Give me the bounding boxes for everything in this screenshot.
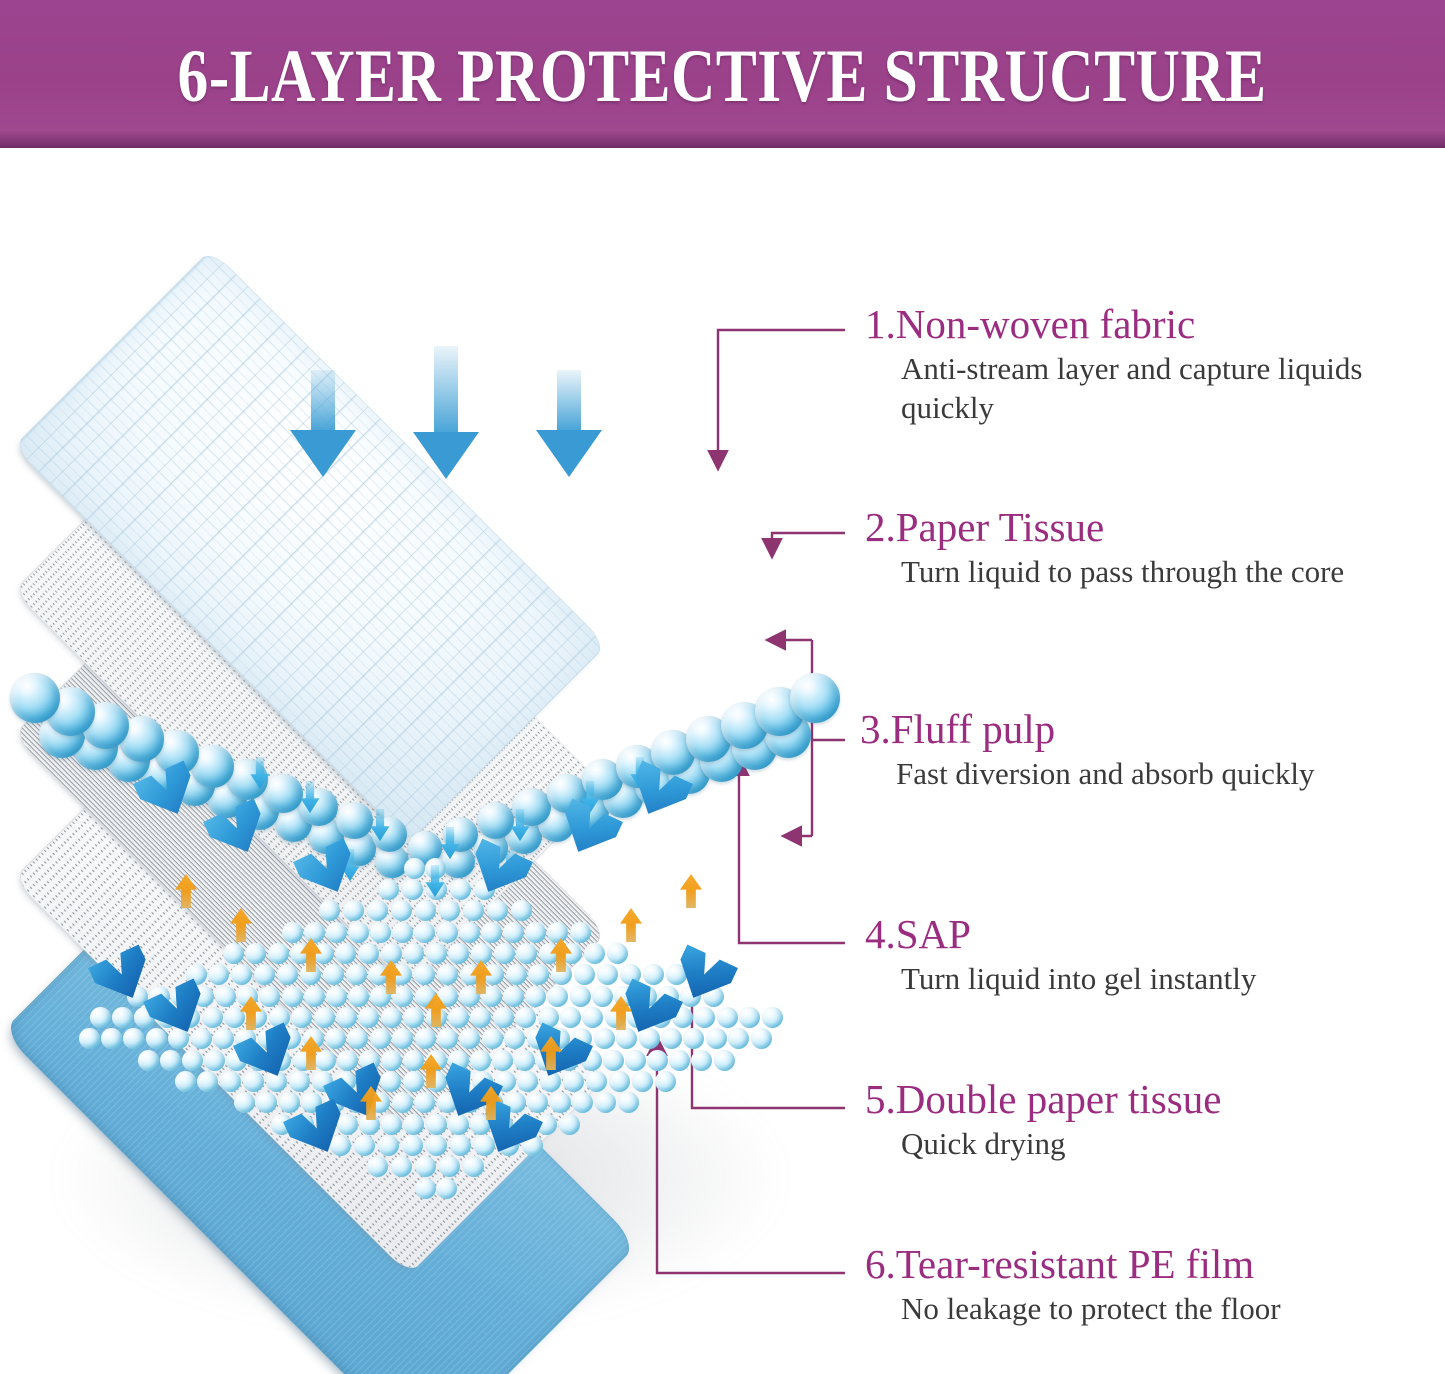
callout-6: 6.Tear-resistant PE film No leakage to p… bbox=[865, 1243, 1405, 1329]
sap-bead bbox=[751, 1028, 772, 1049]
non-woven-fabric-surface bbox=[13, 249, 607, 843]
leader-line-6 bbox=[657, 1038, 845, 1273]
callout-4-title: 4.SAP bbox=[865, 913, 1405, 956]
callout-2-title: 2.Paper Tissue bbox=[865, 506, 1405, 549]
sap-bead bbox=[706, 1028, 727, 1049]
top-arrow-stem bbox=[311, 370, 335, 430]
leader-line-1 bbox=[718, 330, 845, 468]
callout-6-description: No leakage to protect the floor bbox=[901, 1290, 1371, 1329]
sap-bead bbox=[643, 964, 664, 985]
callout-3-description: Fast diversion and absorb quickly bbox=[896, 755, 1366, 794]
fluff-pulp-sphere bbox=[765, 712, 811, 758]
top-arrow-stem bbox=[434, 346, 458, 432]
sap-bead bbox=[625, 1050, 646, 1071]
callout-5-description: Quick drying bbox=[901, 1125, 1371, 1164]
callout-2-description: Turn liquid to pass through the core bbox=[901, 553, 1371, 592]
callout-2: 2.Paper Tissue Turn liquid to pass throu… bbox=[865, 506, 1405, 592]
top-arrow-head bbox=[290, 430, 356, 477]
sap-bead bbox=[655, 1071, 676, 1092]
callout-3: 3.Fluff pulp Fast diversion and absorb q… bbox=[860, 708, 1400, 794]
top-arrow-head bbox=[413, 432, 479, 479]
fluff-pulp-sphere bbox=[732, 725, 777, 770]
fluff-pulp-sphere bbox=[790, 673, 840, 723]
sap-bead bbox=[694, 1007, 715, 1028]
sap-bead bbox=[632, 1071, 653, 1092]
leader-line-4 bbox=[739, 758, 845, 943]
sap-bead bbox=[639, 1028, 660, 1049]
callout-6-title: 6.Tear-resistant PE film bbox=[865, 1243, 1405, 1286]
sap-bead bbox=[669, 1050, 690, 1071]
sap-bead bbox=[661, 1028, 682, 1049]
sap-bead bbox=[691, 1050, 712, 1071]
callout-4: 4.SAP Turn liquid into gel instantly bbox=[865, 913, 1405, 999]
callout-1-title: 1.Non-woven fabric bbox=[865, 303, 1405, 346]
dryness-arrow-up bbox=[680, 874, 702, 908]
fluff-pulp-sphere bbox=[755, 687, 804, 736]
sap-bead bbox=[647, 1050, 668, 1071]
callout-1: 1.Non-woven fabric Anti-stream layer and… bbox=[865, 303, 1405, 428]
callout-1-description: Anti-stream layer and capture liquids qu… bbox=[901, 350, 1371, 428]
sap-bead bbox=[714, 1050, 735, 1071]
sap-bead bbox=[618, 1092, 639, 1113]
callout-4-description: Turn liquid into gel instantly bbox=[901, 960, 1371, 999]
dryness-arrow-up bbox=[620, 908, 642, 942]
sap-bead bbox=[728, 1028, 749, 1049]
sap-bead bbox=[683, 1028, 704, 1049]
callout-5: 5.Double paper tissue Quick drying bbox=[865, 1078, 1405, 1164]
callout-3-title: 3.Fluff pulp bbox=[860, 708, 1400, 751]
sap-bead bbox=[717, 1007, 738, 1028]
flow-chevron-down bbox=[623, 760, 693, 825]
sap-bead bbox=[739, 1007, 760, 1028]
fluff-pulp-sphere bbox=[721, 702, 768, 749]
layer-1-non-woven-fabric bbox=[30, 266, 590, 826]
callout-5-title: 5.Double paper tissue bbox=[865, 1078, 1405, 1121]
fluff-pulp-sphere bbox=[686, 716, 732, 762]
layer-structure-diagram: 1.Non-woven fabric Anti-stream layer and… bbox=[0, 148, 1445, 1374]
leader-line-2 bbox=[772, 533, 845, 556]
header-banner: 6-LAYER PROTECTIVE STRUCTURE bbox=[0, 0, 1445, 148]
top-arrow-head bbox=[536, 430, 602, 477]
fluff-pulp-sphere bbox=[700, 738, 743, 781]
fluff-pulp-sphere bbox=[603, 778, 643, 818]
page-title: 6-LAYER PROTECTIVE STRUCTURE bbox=[178, 39, 1267, 114]
sap-bead bbox=[762, 1007, 783, 1028]
top-arrow-stem bbox=[557, 370, 581, 430]
